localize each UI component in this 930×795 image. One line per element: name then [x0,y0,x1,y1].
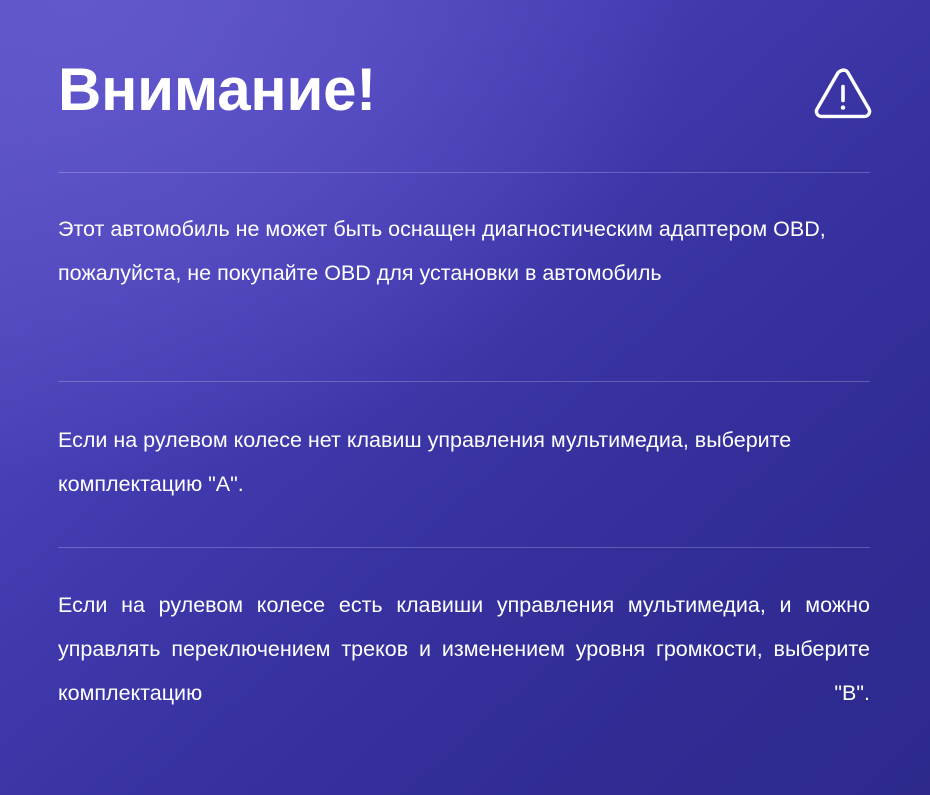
header: Внимание! [58,54,872,132]
warning-triangle-icon [814,68,872,122]
exclamation-dot [841,105,845,109]
page-title: Внимание! [58,54,376,126]
notice-obd-adapter-warning: Этот автомобиль не может быть оснащен ди… [58,207,870,295]
warning-notice-page: Внимание! Этот автомобиль не может быть … [0,0,930,795]
notice-trim-option-b: Если на рулевом колесе есть клавиши упра… [58,583,870,759]
notice-trim-option-a: Если на рулевом колесе нет клавиш управл… [58,418,870,506]
divider-bottom [58,547,870,548]
divider-middle [58,381,870,382]
divider-top [58,172,870,173]
